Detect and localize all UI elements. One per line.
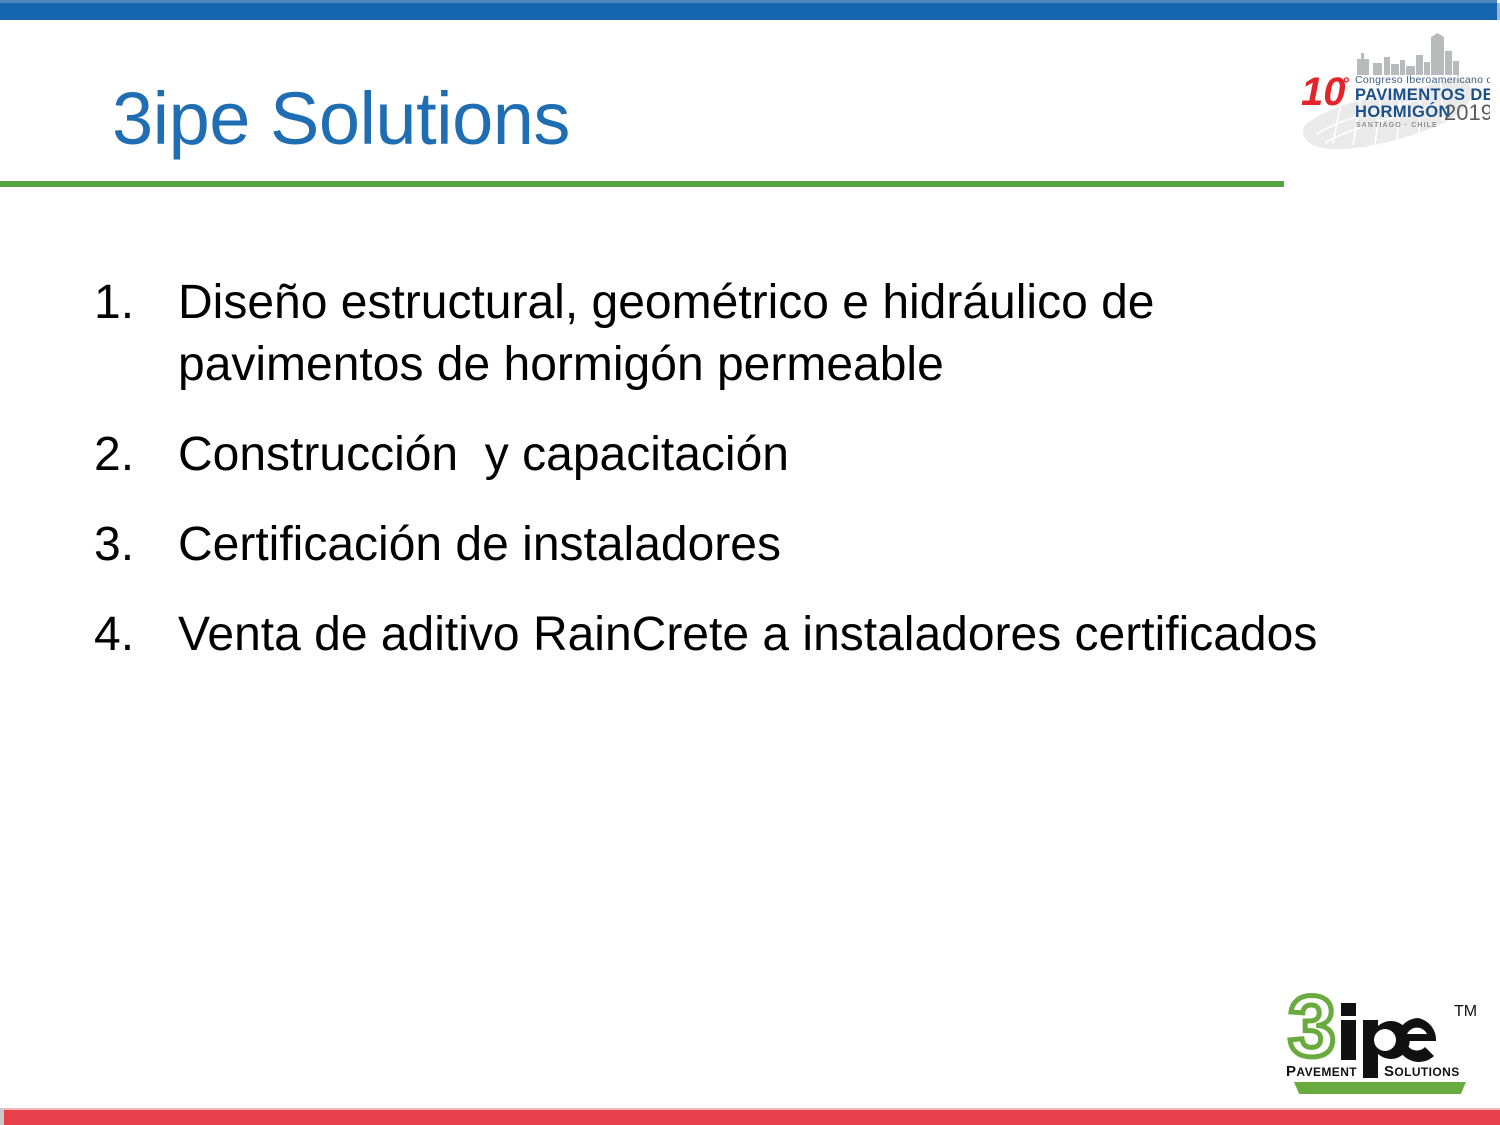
list-item: 3. Certificación de instaladores [90,514,1470,576]
list-item: 2. Construcción y capacitación [90,424,1470,486]
brand-tagline-left: PAVEMENT [1286,1063,1357,1080]
brand-trademark: TM [1454,1003,1477,1020]
conference-line1: Congreso Iberoamericano de [1355,74,1490,86]
page-title: 3ipe Solutions [112,76,570,162]
brand-logo-3ipe: 3 TM PAVEMENT SOLUTIONS [1272,988,1488,1094]
conference-line3: HORMIGÓN [1355,102,1451,121]
list-item: 4. Venta de aditivo RainCrete a instalad… [90,604,1470,666]
conference-ordinal: 10 [1301,70,1346,114]
title-divider-rule [0,181,1284,187]
list-item-number: 2. [94,424,164,486]
conference-logo: 10 ° Congreso Iberoamericano de PAVIMENT… [1295,33,1490,168]
bottom-accent-bar [0,1110,1500,1125]
conference-ordinal-degree: ° [1343,74,1350,93]
list-item-number: 1. [94,272,164,334]
santiago-skyline-icon [1357,33,1459,75]
list-item-label: Certificación de instaladores [178,514,1470,576]
list-item-number: 4. [94,604,164,666]
slide-canvas: 3ipe Solutions 1. Diseño estructural, ge… [0,0,1500,1125]
list-item-number: 3. [94,514,164,576]
list-item: 1. Diseño estructural, geométrico e hidr… [90,272,1470,396]
bottom-accent-bar-cap [0,1108,4,1125]
solutions-list: 1. Diseño estructural, geométrico e hidr… [90,272,1470,694]
brand-tagline-right: SOLUTIONS [1384,1063,1460,1080]
list-item-label: Diseño estructural, geométrico e hidrául… [178,272,1283,396]
svg-text:3: 3 [1288,988,1336,1075]
top-accent-bar [0,3,1500,20]
conference-year: 2019 [1444,100,1490,125]
brand-digit-3-icon: 3 [1288,988,1336,1075]
list-item-label: Venta de aditivo RainCrete a instaladore… [178,604,1470,666]
list-item-label: Construcción y capacitación [178,424,1470,486]
conference-location: SANTIAGO · CHILE [1356,122,1438,129]
brand-base-bar-icon [1294,1082,1466,1094]
